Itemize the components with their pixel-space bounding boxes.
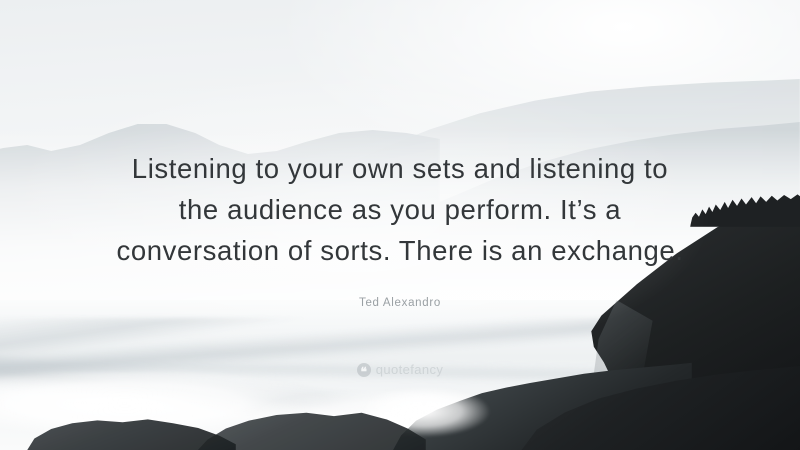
- quote-mark-glyph: ❝: [360, 366, 366, 378]
- watermark-brand-label: quotefancy: [376, 362, 444, 377]
- watermark: ❝ quotefancy: [0, 362, 800, 377]
- quote-author: Ted Alexandro: [0, 297, 800, 309]
- quote-text: Listening to your own sets and listening…: [0, 148, 800, 271]
- quote-block: Listening to your own sets and listening…: [0, 148, 800, 309]
- quote-mark-icon: ❝: [357, 363, 371, 377]
- quote-image-canvas: Listening to your own sets and listening…: [0, 0, 800, 450]
